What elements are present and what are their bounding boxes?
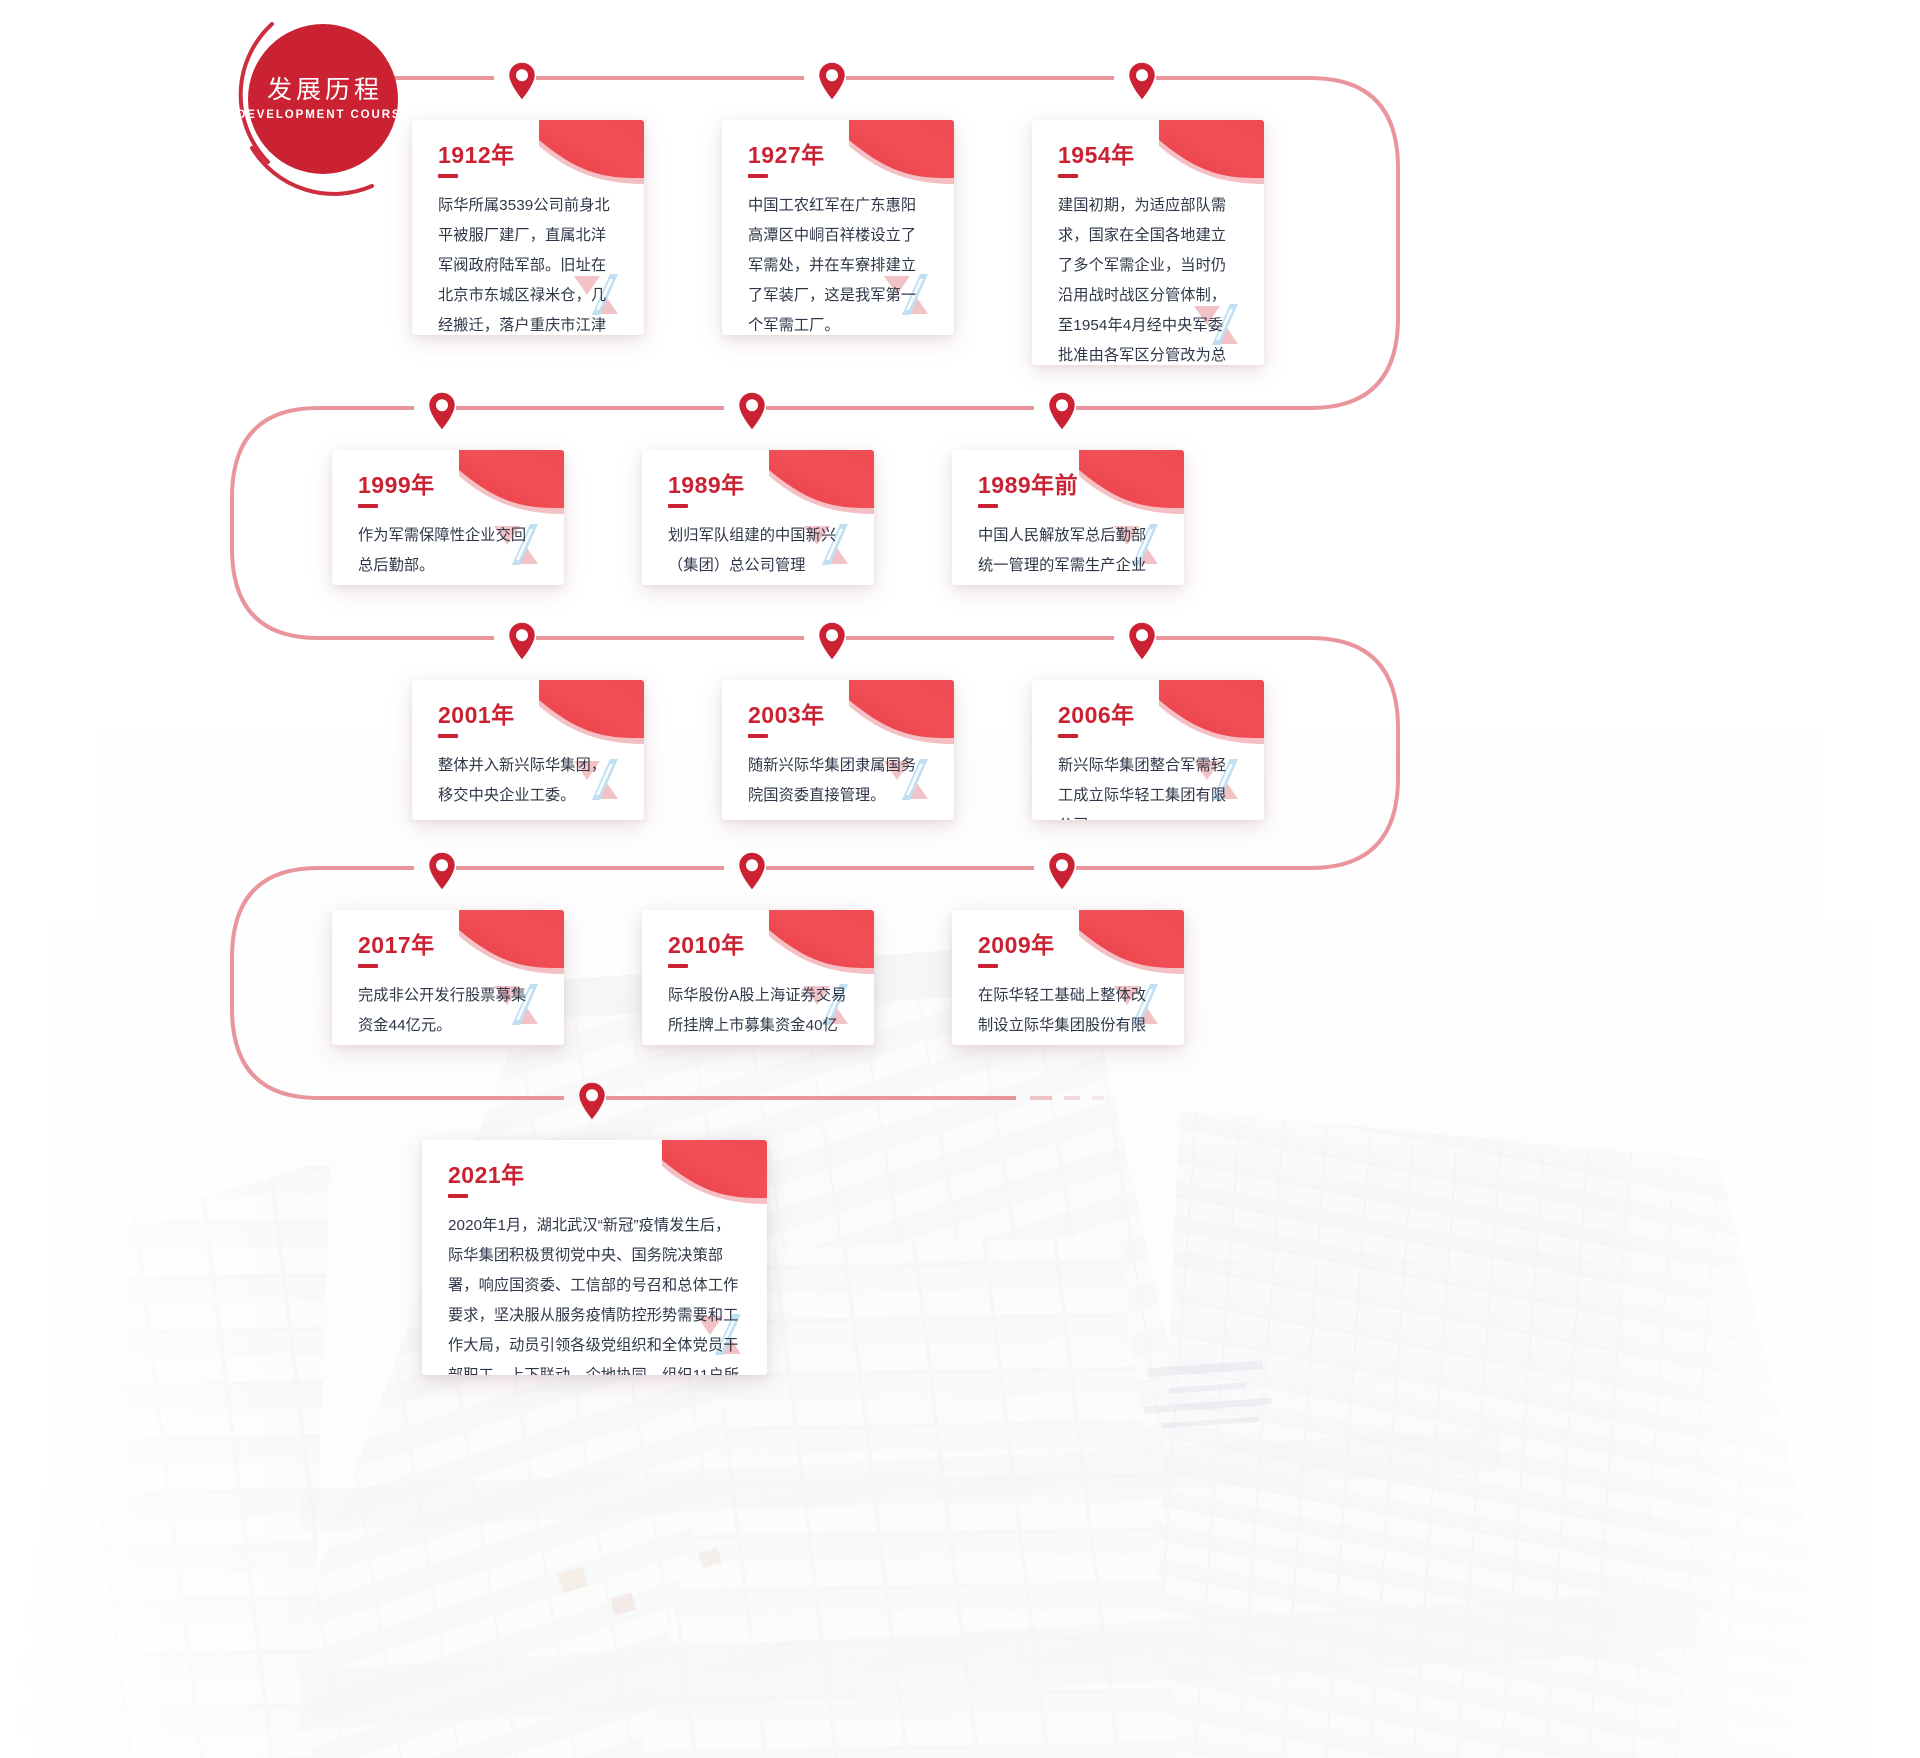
timeline-pin-2006年[interactable] [1128, 622, 1156, 660]
year-underline-rule [1058, 734, 1078, 738]
milestone-year: 1999年 [358, 474, 538, 497]
development-course-badge: 发展历程 DEVELOPMENT COURSE [208, 4, 408, 194]
milestone-year: 2021年 [448, 1164, 741, 1187]
timeline-pin-2017年[interactable] [428, 852, 456, 890]
background-building-image [0, 690, 1920, 1758]
milestone-card-2010年[interactable]: 2010年际华股份A股上海证券交易所挂牌上市募集资金40亿元。 [642, 910, 874, 1045]
timeline-pin-2001年[interactable] [508, 622, 536, 660]
milestone-description: 整体并入新兴际华集团，移交中央企业工委。 [438, 751, 618, 811]
timeline-pin-1999年[interactable] [428, 392, 456, 430]
year-underline-rule [748, 734, 768, 738]
year-underline-rule [668, 504, 688, 508]
milestone-description: 划归军队组建的中国新兴（集团）总公司管理 [668, 521, 848, 581]
milestone-year: 2010年 [668, 934, 848, 957]
milestone-card-1989年前[interactable]: 1989年前中国人民解放军总后勤部统一管理的军需生产企业 [952, 450, 1184, 585]
milestone-year: 2017年 [358, 934, 538, 957]
milestone-year: 1912年 [438, 144, 618, 167]
timeline-pin-1989年[interactable] [738, 392, 766, 430]
badge-title-en: DEVELOPMENT COURSE [235, 109, 411, 121]
milestone-description: 完成非公开发行股票募集资金44亿元。 [358, 981, 538, 1041]
milestone-description: 中国工农红军在广东惠阳高潭区中峒百祥楼设立了军需处，并在车寮排建立了军装厂，这是… [748, 191, 928, 335]
year-underline-rule [748, 174, 768, 178]
timeline-pin-1954年[interactable] [1128, 62, 1156, 100]
milestone-card-2021年[interactable]: 2021年2020年1月，湖北武汉“新冠”疫情发生后，际华集团积极贯彻党中央、国… [422, 1140, 767, 1375]
year-underline-rule [1058, 174, 1078, 178]
year-underline-rule [668, 964, 688, 968]
milestone-card-1999年[interactable]: 1999年作为军需保障性企业交回总后勤部。 [332, 450, 564, 585]
milestone-year: 1954年 [1058, 144, 1238, 167]
milestone-year: 2001年 [438, 704, 618, 727]
milestone-card-1912年[interactable]: 1912年际华所属3539公司前身北平被服厂建厂，直属北洋军阀政府陆军部。旧址在… [412, 120, 644, 335]
milestone-card-2017年[interactable]: 2017年完成非公开发行股票募集资金44亿元。 [332, 910, 564, 1045]
milestone-description: 建国初期，为适应部队需求，国家在全国各地建立了多个军需企业，当时仍沿用战时战区分… [1058, 191, 1238, 365]
timeline-pin-1927年[interactable] [818, 62, 846, 100]
milestone-year: 1989年 [668, 474, 848, 497]
year-underline-rule [438, 734, 458, 738]
badge-title-cn: 发展历程 [263, 77, 383, 105]
year-underline-rule [358, 504, 378, 508]
milestone-description: 作为军需保障性企业交回总后勤部。 [358, 521, 538, 581]
milestone-card-2003年[interactable]: 2003年随新兴际华集团隶属国务院国资委直接管理。 [722, 680, 954, 820]
timeline-pin-1989年前[interactable] [1048, 392, 1076, 430]
milestone-card-2009年[interactable]: 2009年在际华轻工基础上整体改制设立际华集团股份有限公司。 [952, 910, 1184, 1045]
year-underline-rule [978, 504, 998, 508]
milestone-description: 际华股份A股上海证券交易所挂牌上市募集资金40亿元。 [668, 981, 848, 1045]
milestone-year: 2003年 [748, 704, 928, 727]
milestone-card-1927年[interactable]: 1927年中国工农红军在广东惠阳高潭区中峒百祥楼设立了军需处，并在车寮排建立了军… [722, 120, 954, 335]
milestone-card-2001年[interactable]: 2001年整体并入新兴际华集团，移交中央企业工委。 [412, 680, 644, 820]
badge-circle: 发展历程 DEVELOPMENT COURSE [248, 24, 398, 174]
milestone-description: 新兴际华集团整合军需轻工成立际华轻工集团有限公司。 [1058, 751, 1238, 820]
milestone-description: 随新兴际华集团隶属国务院国资委直接管理。 [748, 751, 928, 811]
milestone-description: 际华所属3539公司前身北平被服厂建厂，直属北洋军阀政府陆军部。旧址在北京市东城… [438, 191, 618, 335]
milestone-card-1989年[interactable]: 1989年划归军队组建的中国新兴（集团）总公司管理 [642, 450, 874, 585]
milestone-year: 2009年 [978, 934, 1158, 957]
milestone-year: 2006年 [1058, 704, 1238, 727]
year-underline-rule [448, 1194, 468, 1198]
milestone-description: 在际华轻工基础上整体改制设立际华集团股份有限公司。 [978, 981, 1158, 1045]
year-underline-rule [358, 964, 378, 968]
timeline-pin-2010年[interactable] [738, 852, 766, 890]
milestone-description: 中国人民解放军总后勤部统一管理的军需生产企业 [978, 521, 1158, 581]
timeline-connector-track [0, 0, 1920, 1758]
timeline-pin-2021年[interactable] [578, 1082, 606, 1120]
milestone-year: 1989年前 [978, 474, 1158, 497]
year-underline-rule [438, 174, 458, 178]
timeline-pin-1912年[interactable] [508, 62, 536, 100]
milestone-description: 2020年1月，湖北武汉“新冠”疫情发生后，际华集团积极贯彻党中央、国务院决策部… [448, 1211, 741, 1375]
timeline-pin-2009年[interactable] [1048, 852, 1076, 890]
milestone-card-2006年[interactable]: 2006年新兴际华集团整合军需轻工成立际华轻工集团有限公司。 [1032, 680, 1264, 820]
milestone-card-1954年[interactable]: 1954年建国初期，为适应部队需求，国家在全国各地建立了多个军需企业，当时仍沿用… [1032, 120, 1264, 365]
year-underline-rule [978, 964, 998, 968]
timeline-pin-2003年[interactable] [818, 622, 846, 660]
milestone-year: 1927年 [748, 144, 928, 167]
